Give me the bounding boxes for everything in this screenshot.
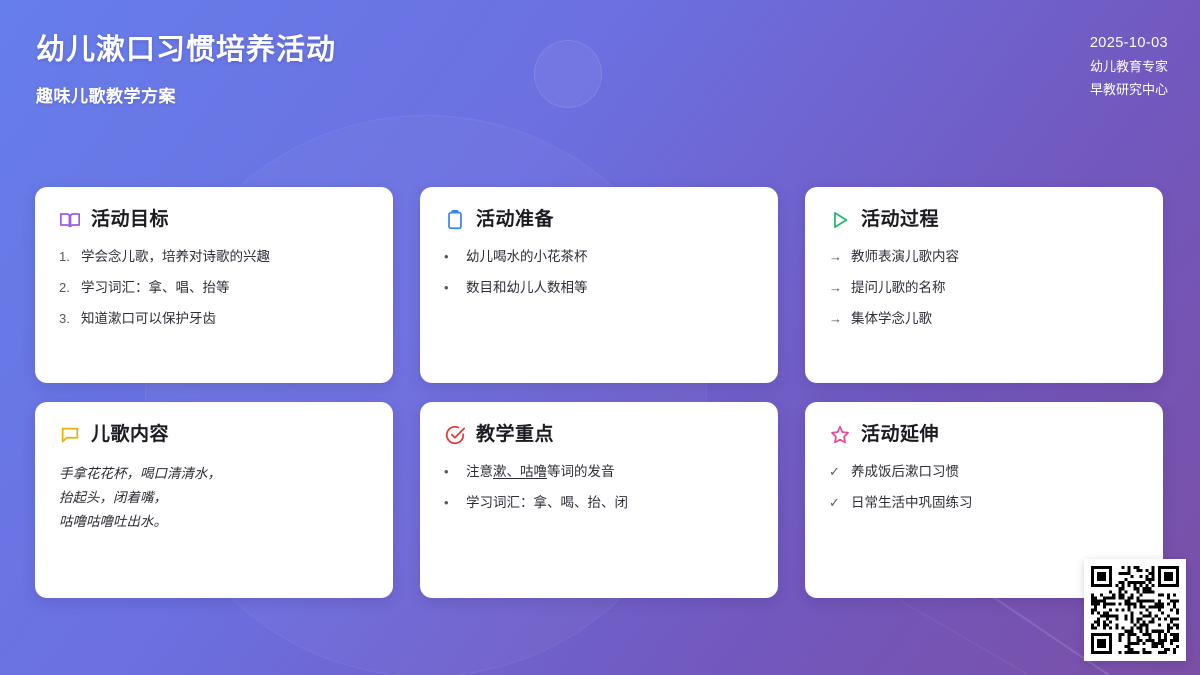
header-date: 2025-10-03 xyxy=(1090,32,1168,55)
list-item: → 提问儿歌的名称 xyxy=(829,278,1139,297)
qr-code-image xyxy=(1091,566,1179,654)
card-header: 活动准备 xyxy=(444,209,754,231)
list-marker: • xyxy=(444,278,457,297)
list-item: ✓ 养成饭后漱口习惯 xyxy=(829,462,1139,481)
list-text: 数目和幼儿人数相等 xyxy=(466,278,754,297)
slide-header: 幼儿漱口习惯培养活动 趣味儿歌教学方案 2025-10-03 幼儿教育专家 早教… xyxy=(0,0,1200,150)
card-title: 活动过程 xyxy=(861,209,939,231)
list-item: → 教师表演儿歌内容 xyxy=(829,247,1139,266)
list-text: 学会念儿歌，培养对诗歌的兴趣 xyxy=(81,247,369,266)
card-preparation[interactable]: 活动准备 • 幼儿喝水的小花茶杯 • 数目和幼儿人数相等 xyxy=(420,187,778,383)
list-item: 2. 学习词汇：拿、唱、抬等 xyxy=(59,278,369,297)
slide-root: 幼儿漱口习惯培养活动 趣味儿歌教学方案 2025-10-03 幼儿教育专家 早教… xyxy=(0,0,1200,675)
card-header: 儿歌内容 xyxy=(59,424,369,446)
list-item: • 学习词汇：拿、喝、抬、闭 xyxy=(444,493,754,512)
list-marker: 2. xyxy=(59,278,72,297)
card-header: 教学重点 xyxy=(444,424,754,446)
list-marker: ✓ xyxy=(829,462,842,481)
card-list: 1. 学会念儿歌，培养对诗歌的兴趣 2. 学习词汇：拿、唱、抬等 3. 知道漱口… xyxy=(59,247,369,328)
list-marker: • xyxy=(444,493,457,512)
list-marker: → xyxy=(829,278,842,297)
list-text: 幼儿喝水的小花茶杯 xyxy=(466,247,754,266)
poem-line: 抬起头，闭着嘴， xyxy=(59,486,369,510)
rhyme-poem: 手拿花花杯，喝口清清水， 抬起头，闭着嘴， 咕噜咕噜吐出水。 xyxy=(59,462,369,534)
list-text: 教师表演儿歌内容 xyxy=(851,247,1139,266)
list-text: 提问儿歌的名称 xyxy=(851,278,1139,297)
poem-line: 咕噜咕噜吐出水。 xyxy=(59,510,369,534)
list-text: 养成饭后漱口习惯 xyxy=(851,462,1139,481)
list-item: • 幼儿喝水的小花茶杯 xyxy=(444,247,754,266)
play-triangle-icon xyxy=(829,209,851,231)
list-marker: • xyxy=(444,462,457,481)
card-title: 活动准备 xyxy=(476,209,554,231)
list-item: 3. 知道漱口可以保护牙齿 xyxy=(59,309,369,328)
list-text: 学习词汇：拿、喝、抬、闭 xyxy=(466,493,754,512)
card-list: ✓ 养成饭后漱口习惯 ✓ 日常生活中巩固练习 xyxy=(829,462,1139,512)
list-marker: 1. xyxy=(59,247,72,266)
list-text: 日常生活中巩固练习 xyxy=(851,493,1139,512)
speech-bubble-icon xyxy=(59,424,81,446)
header-meta: 2025-10-03 幼儿教育专家 早教研究中心 xyxy=(1090,32,1168,101)
list-marker: ✓ xyxy=(829,493,842,512)
card-header: 活动延伸 xyxy=(829,424,1139,446)
card-process[interactable]: 活动过程 → 教师表演儿歌内容 → 提问儿歌的名称 → 集体学念儿歌 xyxy=(805,187,1163,383)
list-item: → 集体学念儿歌 xyxy=(829,309,1139,328)
cards-grid: 活动目标 1. 学会念儿歌，培养对诗歌的兴趣 2. 学习词汇：拿、唱、抬等 3.… xyxy=(35,187,1170,598)
page-subtitle: 趣味儿歌教学方案 xyxy=(36,82,176,107)
card-key-points[interactable]: 教学重点 • 注意漱、咕噜等词的发音 • 学习词汇：拿、喝、抬、闭 xyxy=(420,402,778,598)
list-text: 集体学念儿歌 xyxy=(851,309,1139,328)
list-item: 1. 学会念儿歌，培养对诗歌的兴趣 xyxy=(59,247,369,266)
list-text: 注意漱、咕噜等词的发音 xyxy=(466,462,754,481)
card-header: 活动过程 xyxy=(829,209,1139,231)
header-author: 幼儿教育专家 xyxy=(1090,55,1168,78)
card-title: 儿歌内容 xyxy=(91,424,169,446)
list-item: ✓ 日常生活中巩固练习 xyxy=(829,493,1139,512)
header-organization: 早教研究中心 xyxy=(1090,78,1168,101)
card-goals[interactable]: 活动目标 1. 学会念儿歌，培养对诗歌的兴趣 2. 学习词汇：拿、唱、抬等 3.… xyxy=(35,187,393,383)
card-title: 活动延伸 xyxy=(861,424,939,446)
list-text: 学习词汇：拿、唱、抬等 xyxy=(81,278,369,297)
card-title: 活动目标 xyxy=(91,209,169,231)
list-item: • 数目和幼儿人数相等 xyxy=(444,278,754,297)
page-title: 幼儿漱口习惯培养活动 xyxy=(36,26,336,68)
check-circle-icon xyxy=(444,424,466,446)
qr-code[interactable] xyxy=(1084,559,1186,661)
card-list: • 幼儿喝水的小花茶杯 • 数目和幼儿人数相等 xyxy=(444,247,754,297)
list-marker: • xyxy=(444,247,457,266)
card-header: 活动目标 xyxy=(59,209,369,231)
list-marker: 3. xyxy=(59,309,72,328)
card-rhyme[interactable]: 儿歌内容 手拿花花杯，喝口清清水， 抬起头，闭着嘴， 咕噜咕噜吐出水。 xyxy=(35,402,393,598)
star-icon xyxy=(829,424,851,446)
list-text: 知道漱口可以保护牙齿 xyxy=(81,309,369,328)
list-marker: → xyxy=(829,309,842,328)
poem-line: 手拿花花杯，喝口清清水， xyxy=(59,462,369,486)
list-marker: → xyxy=(829,247,842,266)
list-item: • 注意漱、咕噜等词的发音 xyxy=(444,462,754,481)
clipboard-icon xyxy=(444,209,466,231)
card-title: 教学重点 xyxy=(476,424,554,446)
card-list: → 教师表演儿歌内容 → 提问儿歌的名称 → 集体学念儿歌 xyxy=(829,247,1139,328)
card-list: • 注意漱、咕噜等词的发音 • 学习词汇：拿、喝、抬、闭 xyxy=(444,462,754,512)
open-book-icon xyxy=(59,209,81,231)
